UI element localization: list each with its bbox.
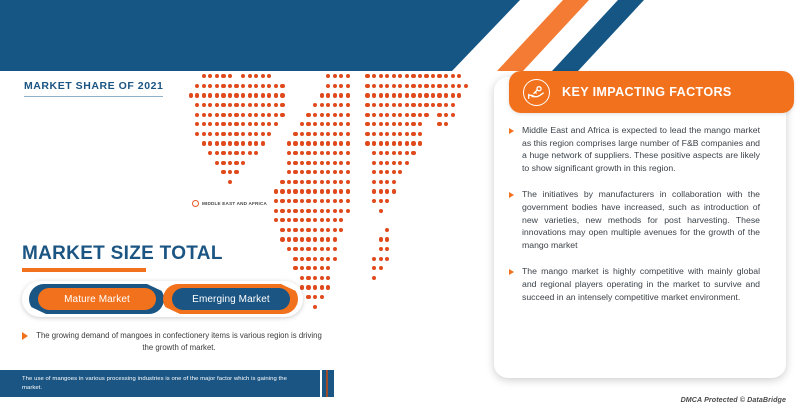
map-dot xyxy=(320,122,324,126)
map-dot xyxy=(221,74,225,78)
map-dot xyxy=(248,84,252,88)
map-dot xyxy=(254,74,258,78)
map-dot xyxy=(379,103,383,107)
map-dot xyxy=(306,113,310,117)
map-dot xyxy=(451,84,455,88)
map-dot xyxy=(333,247,337,251)
map-dot xyxy=(261,74,265,78)
map-dot xyxy=(333,209,337,213)
map-dot xyxy=(379,180,383,184)
map-dot xyxy=(280,228,284,232)
map-dot xyxy=(326,257,330,261)
map-dot xyxy=(306,180,310,184)
map-dot xyxy=(346,84,350,88)
world-map-dots xyxy=(176,55,496,365)
map-dot xyxy=(333,122,337,126)
map-dot xyxy=(333,161,337,165)
map-dot xyxy=(320,228,324,232)
map-dot xyxy=(326,103,330,107)
map-dot xyxy=(320,189,324,193)
map-dot xyxy=(234,161,238,165)
map-dot xyxy=(280,189,284,193)
map-dot xyxy=(215,74,219,78)
map-dot xyxy=(287,141,291,145)
map-dot xyxy=(392,122,396,126)
map-dot xyxy=(293,141,297,145)
map-dot xyxy=(379,170,383,174)
map-dot xyxy=(313,257,317,261)
map-dot xyxy=(287,170,291,174)
map-dot xyxy=(372,161,376,165)
map-dot xyxy=(280,113,284,117)
map-dot xyxy=(326,237,330,241)
circle-outline-icon xyxy=(192,200,199,207)
map-dot xyxy=(228,122,232,126)
map-dot xyxy=(293,237,297,241)
map-dot xyxy=(346,141,350,145)
map-dot xyxy=(195,132,199,136)
map-dot xyxy=(418,122,422,126)
map-dot xyxy=(313,189,317,193)
map-dot xyxy=(333,237,337,241)
map-dot xyxy=(228,93,232,97)
map-dot xyxy=(424,84,428,88)
map-dot xyxy=(261,132,265,136)
map-dot xyxy=(313,113,317,117)
map-dot xyxy=(221,141,225,145)
map-dot xyxy=(202,132,206,136)
map-dot xyxy=(202,84,206,88)
map-dot xyxy=(280,218,284,222)
footer-strip-text: The use of mangoes in various processing… xyxy=(0,375,300,393)
map-dot xyxy=(208,74,212,78)
map-dot xyxy=(326,180,330,184)
map-dot xyxy=(451,74,455,78)
map-dot xyxy=(385,161,389,165)
map-dot xyxy=(234,84,238,88)
map-dot xyxy=(411,103,415,107)
segment-emerging-market[interactable]: Emerging Market xyxy=(163,284,298,314)
map-dot xyxy=(424,113,428,117)
map-dot xyxy=(451,103,455,107)
map-dot xyxy=(326,113,330,117)
map-dot xyxy=(392,170,396,174)
map-dot xyxy=(195,113,199,117)
map-dot xyxy=(202,93,206,97)
map-dot xyxy=(339,103,343,107)
map-dot xyxy=(241,141,245,145)
map-dot xyxy=(418,74,422,78)
map-dot xyxy=(234,93,238,97)
map-dot xyxy=(398,122,402,126)
map-dot xyxy=(293,257,297,261)
map-dot xyxy=(379,247,383,251)
map-dot xyxy=(221,132,225,136)
map-dot xyxy=(280,84,284,88)
map-dot xyxy=(215,113,219,117)
map-dot xyxy=(339,189,343,193)
map-dot xyxy=(320,161,324,165)
map-dot xyxy=(339,122,343,126)
map-dot xyxy=(306,295,310,299)
map-dot xyxy=(300,180,304,184)
map-dot xyxy=(313,305,317,309)
map-dot xyxy=(313,266,317,270)
map-dot xyxy=(379,151,383,155)
map-dot xyxy=(202,122,206,126)
map-dot xyxy=(333,257,337,261)
map-dot xyxy=(313,218,317,222)
map-dot xyxy=(306,170,310,174)
map-dot xyxy=(333,93,337,97)
map-dot xyxy=(392,180,396,184)
map-dot xyxy=(418,113,422,117)
map-dot xyxy=(320,180,324,184)
map-dot xyxy=(300,122,304,126)
map-dot xyxy=(248,151,252,155)
map-dot xyxy=(444,93,448,97)
map-dot xyxy=(300,257,304,261)
market-size-underline xyxy=(22,268,146,272)
map-dot xyxy=(313,237,317,241)
map-dot xyxy=(293,218,297,222)
map-dot xyxy=(208,84,212,88)
map-dot xyxy=(326,247,330,251)
map-dot xyxy=(320,141,324,145)
map-dot xyxy=(385,170,389,174)
map-dot xyxy=(418,93,422,97)
key-factor-item: The mango market is highly competitive w… xyxy=(509,265,781,303)
map-dot xyxy=(346,122,350,126)
map-dot xyxy=(398,93,402,97)
map-dot xyxy=(306,189,310,193)
map-dot xyxy=(346,180,350,184)
map-dot xyxy=(241,84,245,88)
map-dot xyxy=(293,161,297,165)
map-dot xyxy=(339,74,343,78)
map-dot xyxy=(418,141,422,145)
map-dot xyxy=(241,93,245,97)
map-dot xyxy=(248,113,252,117)
map-dot xyxy=(326,209,330,213)
map-dot xyxy=(346,74,350,78)
map-dot xyxy=(392,151,396,155)
map-dot xyxy=(379,93,383,97)
map-dot xyxy=(274,199,278,203)
map-dot xyxy=(411,93,415,97)
map-dot xyxy=(379,199,383,203)
map-dot xyxy=(234,103,238,107)
map-dot xyxy=(405,132,409,136)
map-dot xyxy=(241,161,245,165)
map-dot xyxy=(365,113,369,117)
map-dot xyxy=(221,93,225,97)
map-dot xyxy=(228,180,232,184)
key-impacting-factors-header: KEY IMPACTING FACTORS xyxy=(509,71,794,113)
map-dot xyxy=(411,151,415,155)
map-dot xyxy=(313,122,317,126)
map-dot xyxy=(339,84,343,88)
triangle-right-icon xyxy=(509,269,514,275)
map-dot xyxy=(248,122,252,126)
map-dot xyxy=(424,103,428,107)
map-dot xyxy=(339,209,343,213)
map-dot xyxy=(411,84,415,88)
map-dot xyxy=(267,74,271,78)
map-dot xyxy=(457,74,461,78)
map-dot xyxy=(300,247,304,251)
map-dot xyxy=(287,228,291,232)
map-dot xyxy=(221,103,225,107)
market-share-label: MARKET SHARE OF 2021 xyxy=(24,80,163,97)
triangle-right-icon xyxy=(509,192,514,198)
map-dot xyxy=(306,228,310,232)
map-dot xyxy=(320,170,324,174)
map-dot xyxy=(405,141,409,145)
map-dot xyxy=(326,141,330,145)
map-dot xyxy=(372,276,376,280)
map-dot xyxy=(306,151,310,155)
map-dot xyxy=(300,170,304,174)
map-dot xyxy=(195,84,199,88)
map-dot xyxy=(241,151,245,155)
map-dot xyxy=(234,141,238,145)
map-dot xyxy=(379,141,383,145)
map-dot xyxy=(320,132,324,136)
map-dot xyxy=(411,141,415,145)
map-dot xyxy=(372,103,376,107)
map-dot xyxy=(300,237,304,241)
footer-strip-tab xyxy=(322,370,334,397)
map-dot xyxy=(300,151,304,155)
segment-mature-market[interactable]: Mature Market xyxy=(29,284,164,314)
map-dot xyxy=(346,189,350,193)
map-dot xyxy=(313,199,317,203)
map-dot xyxy=(261,141,265,145)
map-dot xyxy=(385,93,389,97)
key-factor-text: The initiatives by manufacturers in coll… xyxy=(522,188,760,251)
map-dot xyxy=(248,132,252,136)
map-dot xyxy=(215,103,219,107)
map-dot xyxy=(457,93,461,97)
map-dot xyxy=(215,122,219,126)
map-dot xyxy=(431,74,435,78)
map-dot xyxy=(372,74,376,78)
map-dot xyxy=(300,228,304,232)
map-dot xyxy=(392,113,396,117)
map-dot xyxy=(379,189,383,193)
map-dot xyxy=(287,199,291,203)
map-dot xyxy=(320,151,324,155)
map-dot xyxy=(306,257,310,261)
map-dot xyxy=(411,113,415,117)
map-dot xyxy=(228,141,232,145)
map-dot xyxy=(326,285,330,289)
map-dot xyxy=(385,237,389,241)
map-dot xyxy=(418,84,422,88)
map-dot xyxy=(300,141,304,145)
map-dot xyxy=(444,113,448,117)
map-dot xyxy=(333,103,337,107)
map-dot xyxy=(228,74,232,78)
map-dot xyxy=(405,103,409,107)
map-dot xyxy=(437,74,441,78)
map-dot xyxy=(385,247,389,251)
map-dot xyxy=(208,141,212,145)
map-dot xyxy=(248,74,252,78)
map-dot xyxy=(215,132,219,136)
map-dot xyxy=(431,103,435,107)
map-dot xyxy=(293,199,297,203)
map-dot xyxy=(221,151,225,155)
map-dot xyxy=(372,170,376,174)
map-dot xyxy=(379,257,383,261)
map-dot xyxy=(405,84,409,88)
map-dot xyxy=(274,103,278,107)
map-dot xyxy=(398,151,402,155)
map-dot xyxy=(195,103,199,107)
map-dot xyxy=(313,141,317,145)
map-dot xyxy=(437,122,441,126)
map-dot xyxy=(208,122,212,126)
map-dot xyxy=(444,84,448,88)
map-dot xyxy=(261,84,265,88)
map-dot xyxy=(241,103,245,107)
map-dot xyxy=(274,209,278,213)
map-dot xyxy=(306,266,310,270)
map-dot xyxy=(274,189,278,193)
map-dot xyxy=(228,84,232,88)
map-dot xyxy=(424,93,428,97)
map-dot xyxy=(320,247,324,251)
map-dot xyxy=(293,180,297,184)
map-dot xyxy=(365,132,369,136)
map-dot xyxy=(326,151,330,155)
map-dot xyxy=(405,113,409,117)
map-dot xyxy=(208,103,212,107)
map-dot xyxy=(398,170,402,174)
map-dot xyxy=(228,103,232,107)
map-dot xyxy=(405,93,409,97)
map-dot xyxy=(398,113,402,117)
map-dot xyxy=(392,132,396,136)
map-dot xyxy=(228,161,232,165)
map-dot xyxy=(274,218,278,222)
map-dot xyxy=(333,113,337,117)
map-dot xyxy=(437,93,441,97)
map-dot xyxy=(365,74,369,78)
map-dot xyxy=(405,122,409,126)
map-dot xyxy=(411,74,415,78)
map-dot xyxy=(313,276,317,280)
map-dot xyxy=(320,285,324,289)
map-dot xyxy=(313,132,317,136)
map-dot xyxy=(306,276,310,280)
map-dot xyxy=(313,285,317,289)
map-dot xyxy=(241,132,245,136)
map-dot xyxy=(444,122,448,126)
map-dot xyxy=(274,122,278,126)
map-dot xyxy=(313,170,317,174)
map-dot xyxy=(320,295,324,299)
map-dot xyxy=(280,180,284,184)
map-dot xyxy=(215,84,219,88)
map-dot xyxy=(313,161,317,165)
map-dot xyxy=(333,199,337,203)
map-dot xyxy=(372,180,376,184)
map-dot xyxy=(320,199,324,203)
triangle-right-icon xyxy=(22,332,28,340)
map-dot xyxy=(333,218,337,222)
map-dot xyxy=(392,103,396,107)
map-dot xyxy=(372,93,376,97)
map-dot xyxy=(339,93,343,97)
map-dot xyxy=(254,103,258,107)
map-dot xyxy=(457,84,461,88)
key-impacting-factors-title: KEY IMPACTING FACTORS xyxy=(562,85,732,99)
map-dot xyxy=(379,113,383,117)
map-dot xyxy=(320,276,324,280)
map-dot xyxy=(385,103,389,107)
map-dot xyxy=(326,189,330,193)
map-dot xyxy=(234,113,238,117)
map-dot xyxy=(372,151,376,155)
map-dot xyxy=(385,180,389,184)
map-dot xyxy=(333,180,337,184)
map-dot xyxy=(300,132,304,136)
map-dot xyxy=(274,93,278,97)
map-dot xyxy=(267,132,271,136)
map-dot xyxy=(411,122,415,126)
map-dot xyxy=(346,170,350,174)
map-dot xyxy=(320,218,324,222)
map-dot xyxy=(326,228,330,232)
map-dot xyxy=(241,122,245,126)
map-dot xyxy=(267,93,271,97)
map-dot xyxy=(392,189,396,193)
map-dot xyxy=(365,122,369,126)
map-dot xyxy=(326,276,330,280)
map-dot xyxy=(189,93,193,97)
map-dot xyxy=(254,151,258,155)
map-dot xyxy=(385,151,389,155)
map-dot xyxy=(411,132,415,136)
map-dot xyxy=(267,122,271,126)
map-dot xyxy=(379,209,383,213)
map-dot xyxy=(451,93,455,97)
map-dot xyxy=(261,113,265,117)
map-dot xyxy=(254,141,258,145)
map-dot xyxy=(221,170,225,174)
map-dot xyxy=(385,132,389,136)
map-dot xyxy=(287,161,291,165)
map-dot xyxy=(293,170,297,174)
map-dot xyxy=(418,132,422,136)
map-dot xyxy=(287,151,291,155)
map-dot xyxy=(234,132,238,136)
key-impacting-factors-list: Middle East and Africa is expected to le… xyxy=(509,124,781,317)
map-dot xyxy=(293,132,297,136)
map-dot xyxy=(379,237,383,241)
map-dot xyxy=(339,141,343,145)
map-dot xyxy=(339,228,343,232)
map-dot xyxy=(320,237,324,241)
map-dot xyxy=(306,209,310,213)
map-dot xyxy=(313,103,317,107)
map-dot xyxy=(398,74,402,78)
map-dot xyxy=(306,199,310,203)
map-dot xyxy=(261,103,265,107)
